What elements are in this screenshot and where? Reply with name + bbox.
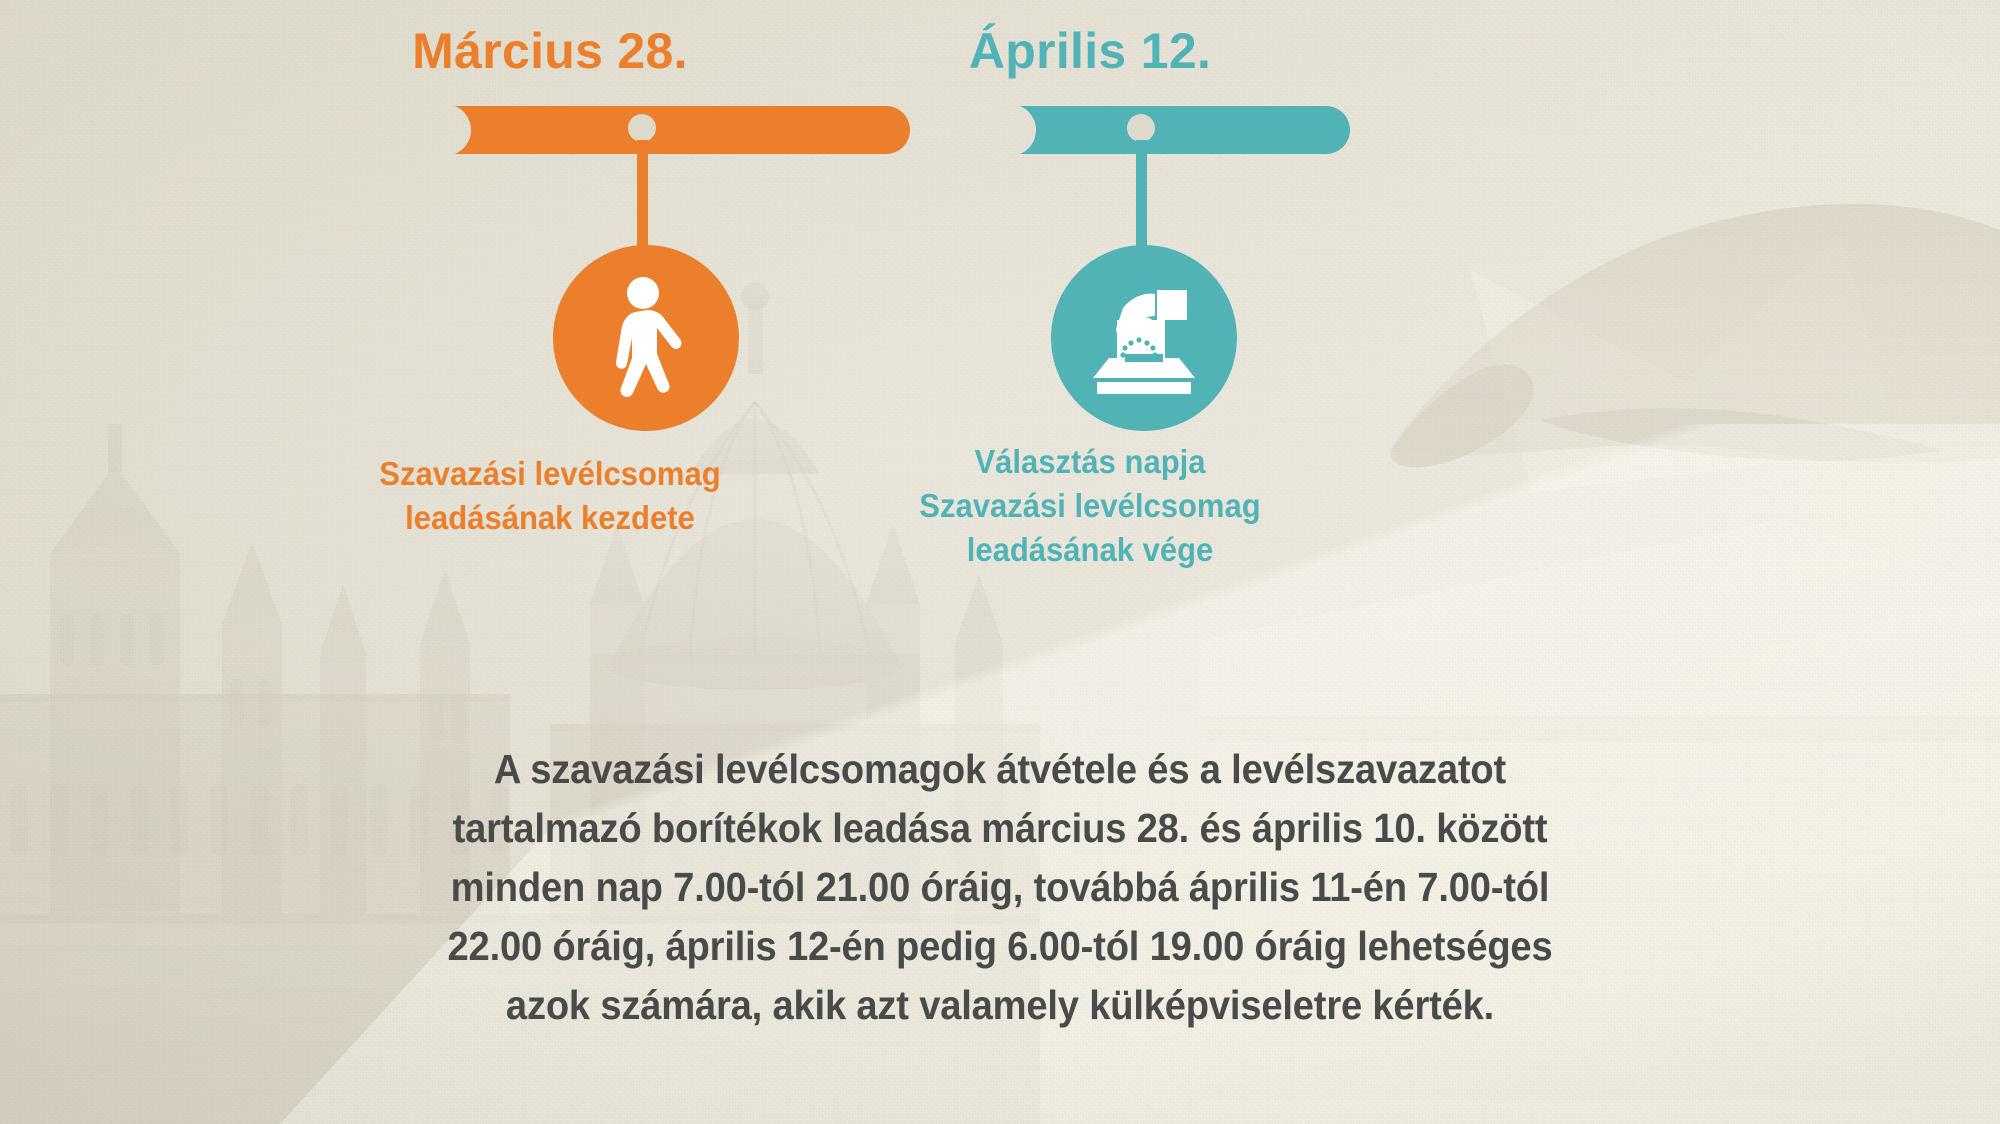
- marker-icon-circle-march: [553, 245, 739, 431]
- infographic-canvas: Március 28. Szavazási levélcsomag leadás…: [0, 0, 2000, 1124]
- body-line: azok számára, akik azt valamely külképvi…: [70, 976, 1930, 1035]
- marker-caption-line: Választás napja: [874, 440, 1306, 484]
- marker-date-april: Április 12.: [860, 22, 1320, 80]
- marker-bar-march: [455, 106, 915, 154]
- marker-caption-line: leadásának kezdete: [334, 496, 766, 540]
- body-line: 22.00 óráig, április 12-én pedig 6.00-tó…: [70, 917, 1930, 976]
- marker-caption-line: Szavazási levélcsomag: [334, 452, 766, 496]
- marker-caption-april: Választás napja Szavazási levélcsomag le…: [874, 440, 1306, 573]
- body-line: minden nap 7.00-tól 21.00 óráig, továbbá…: [70, 858, 1930, 917]
- timeline-marker-april: Április 12.: [860, 0, 1320, 680]
- marker-date-march: Március 28.: [320, 22, 780, 80]
- body-line: tartalmazó borítékok leadása március 28.…: [70, 799, 1930, 858]
- marker-caption-line: Szavazási levélcsomag: [874, 484, 1306, 528]
- ballot-box-hand-icon: [1085, 282, 1203, 394]
- marker-caption-march: Szavazási levélcsomag leadásának kezdete: [334, 452, 766, 540]
- body-line: A szavazási levélcsomagok átvétele és a …: [70, 740, 1930, 799]
- walking-person-icon: [591, 276, 701, 400]
- timeline-marker-march: Március 28. Szavazási levélcsomag leadás…: [320, 0, 780, 640]
- body-paragraph: A szavazási levélcsomagok átvétele és a …: [70, 740, 1930, 1035]
- marker-icon-circle-april: [1051, 245, 1237, 431]
- marker-bar-april: [1020, 106, 1350, 154]
- marker-caption-line: leadásának vége: [874, 528, 1306, 572]
